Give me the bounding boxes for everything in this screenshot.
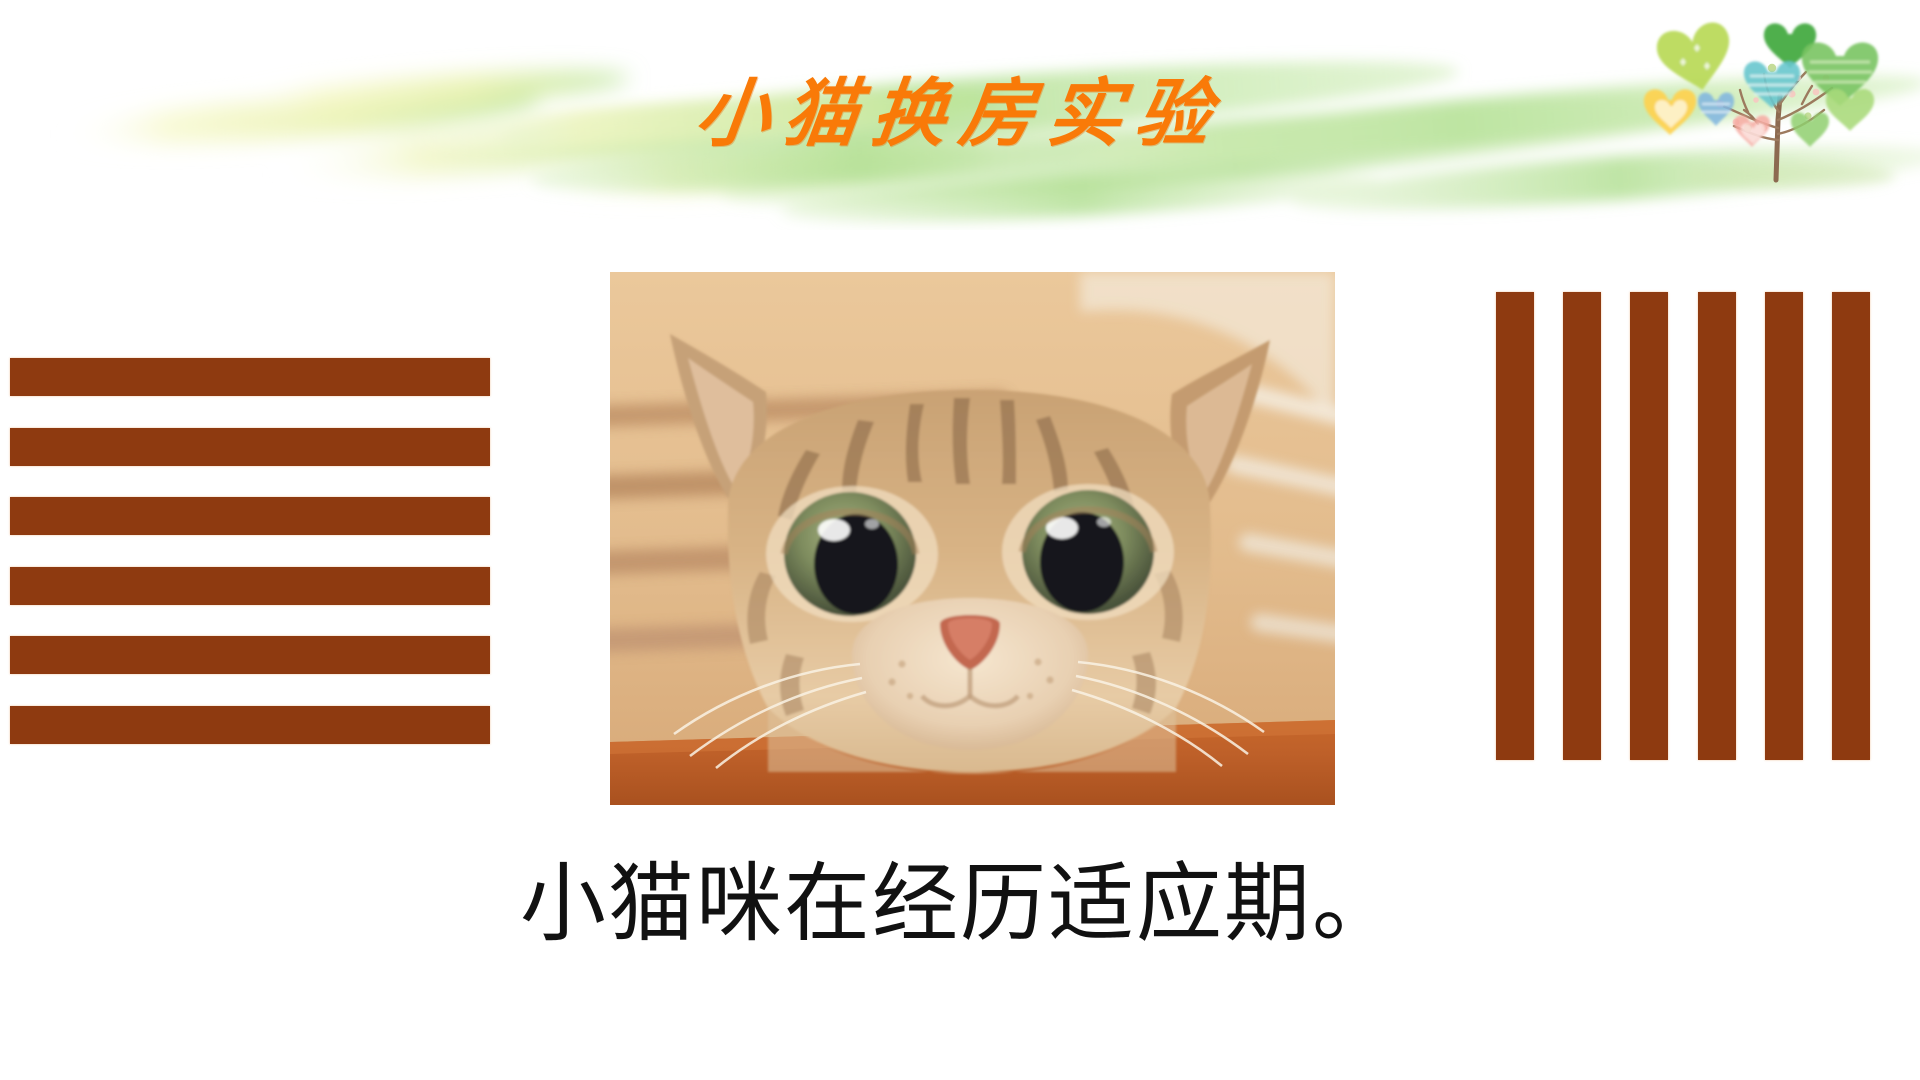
bar-horizontal xyxy=(10,497,490,535)
bar-vertical xyxy=(1563,292,1601,760)
bar-horizontal xyxy=(10,636,490,674)
bar-vertical xyxy=(1765,292,1803,760)
cat-photo-illustration xyxy=(610,272,1335,805)
bar-vertical xyxy=(1832,292,1870,760)
horizontal-bars-icon xyxy=(10,358,490,744)
bar-horizontal xyxy=(10,567,490,605)
heart-tree-icon xyxy=(1630,0,1920,200)
bar-vertical xyxy=(1630,292,1668,760)
bar-vertical xyxy=(1496,292,1534,760)
slide-canvas: 小猫换房实验 xyxy=(0,0,1920,1080)
bar-vertical xyxy=(1698,292,1736,760)
vertical-bars-icon xyxy=(1496,292,1870,760)
cat-photo xyxy=(610,272,1335,805)
bar-horizontal xyxy=(10,358,490,396)
bar-horizontal xyxy=(10,428,490,466)
bar-horizontal xyxy=(10,706,490,744)
caption-text: 小猫咪在经历适应期。 xyxy=(0,858,1920,951)
